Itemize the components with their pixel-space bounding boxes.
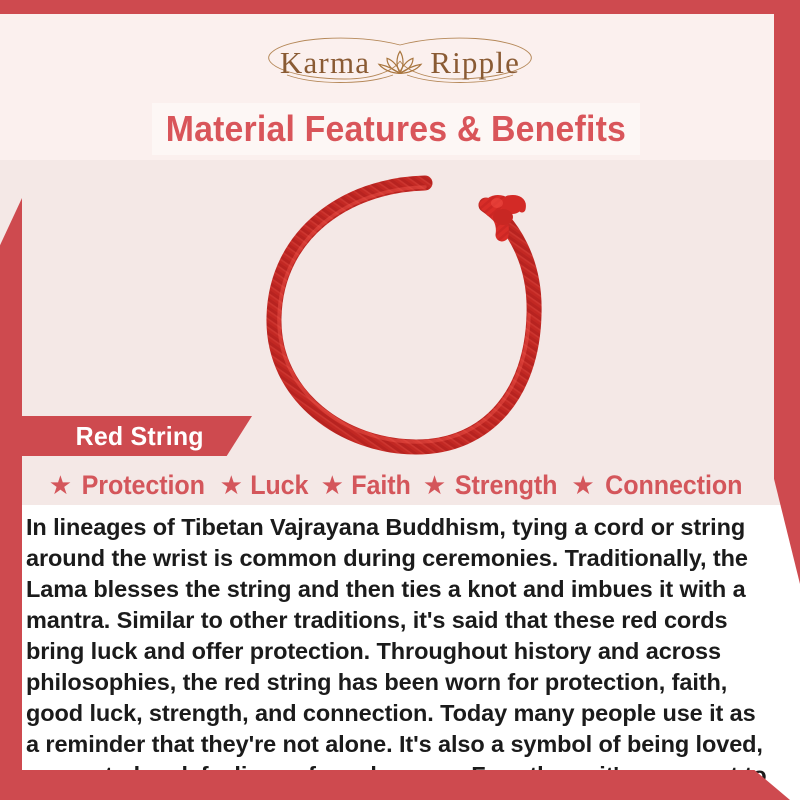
product-image-bracelet: [250, 165, 570, 465]
benefit-label: Faith: [351, 470, 411, 501]
brand-logo: KarmaRipple: [0, 34, 800, 92]
section-banner-label: Red String: [26, 421, 204, 452]
page-title: Material Features & Benefits: [166, 108, 626, 150]
description-paragraph: In lineages of Tibetan Vajrayana Buddhis…: [26, 512, 774, 800]
star-icon: ★: [220, 472, 243, 498]
star-icon: ★: [423, 472, 446, 498]
benefit-label: Luck: [250, 470, 308, 501]
brand-name-right: Ripple: [430, 45, 520, 80]
decor-frame-bottom: [0, 770, 790, 800]
infographic-page: KarmaRipple Material Features & Benefits…: [0, 0, 800, 800]
benefits-row: ★ Protection ★ Luck ★ Faith ★ Strength ★…: [22, 464, 774, 506]
brand-name-left: Karma: [280, 45, 370, 80]
star-icon: ★: [321, 472, 344, 498]
benefit-label: Protection: [82, 470, 205, 501]
benefit-item: ★ Strength: [423, 470, 562, 501]
decor-frame-top: [0, 0, 800, 14]
lotus-flower-icon: [377, 46, 423, 78]
benefit-item: ★ Luck: [220, 470, 311, 501]
benefit-item: ★ Faith: [321, 470, 413, 501]
section-banner: Red String: [22, 416, 252, 456]
benefit-label: Strength: [455, 470, 557, 501]
benefit-label: Connection: [605, 470, 742, 501]
star-icon: ★: [571, 472, 594, 498]
decor-frame-left: [0, 198, 22, 788]
star-icon: ★: [49, 472, 72, 498]
benefit-item: ★ Connection: [571, 470, 747, 501]
benefit-item: ★ Protection: [49, 470, 210, 501]
page-title-plate: Material Features & Benefits: [152, 103, 640, 155]
